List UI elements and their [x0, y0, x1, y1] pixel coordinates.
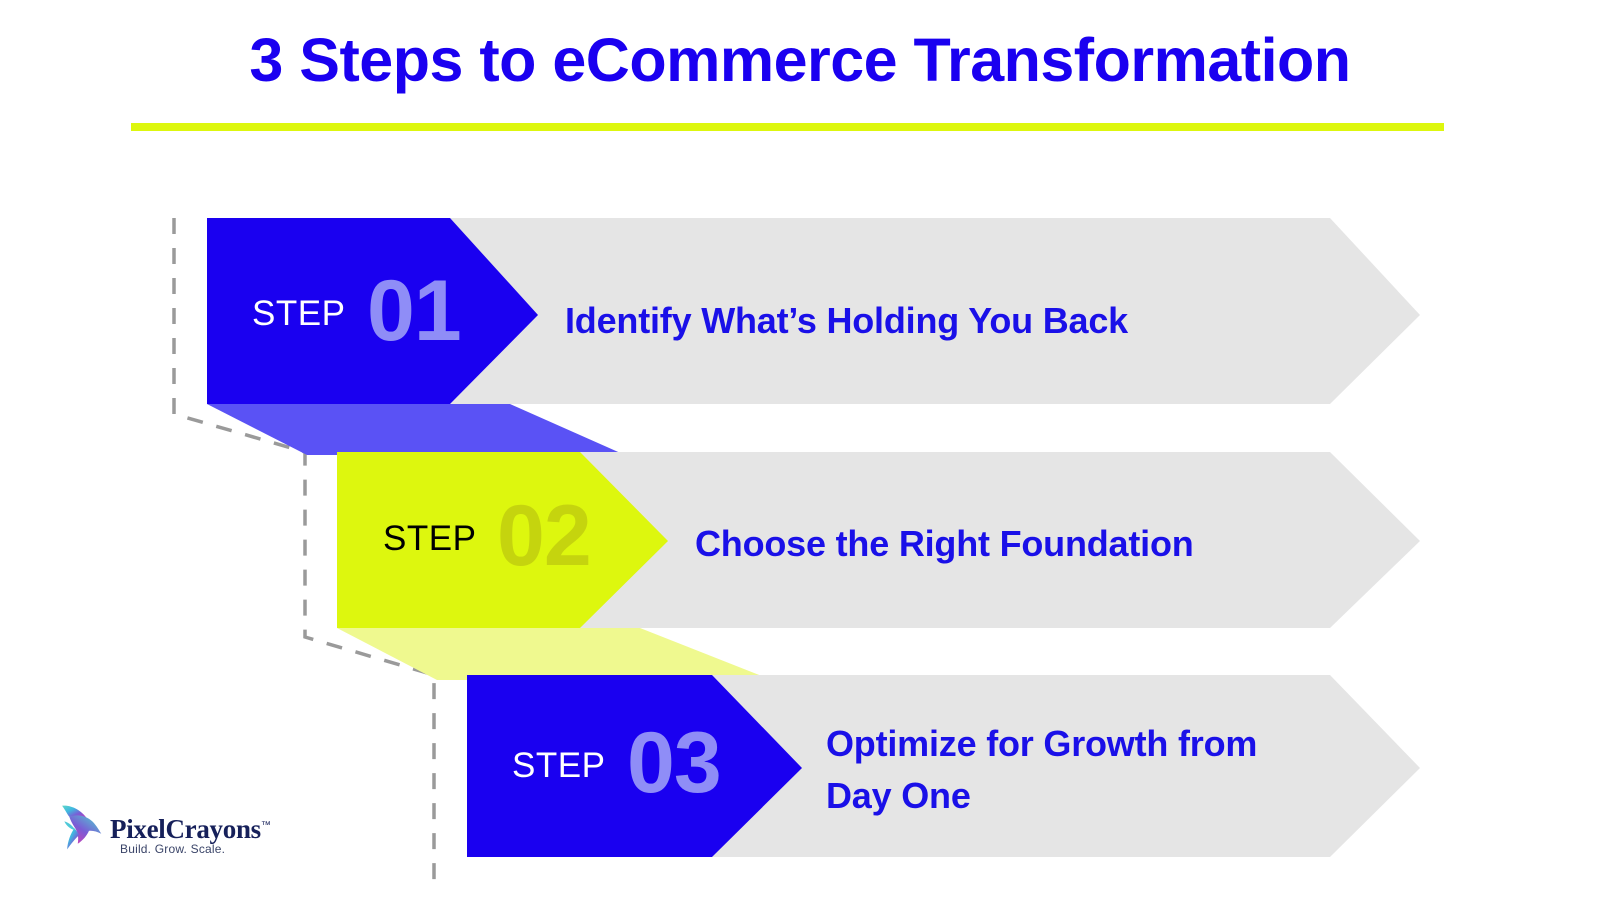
- logo-name: PixelCrayons: [110, 814, 261, 844]
- step-number-03: 03: [627, 720, 721, 806]
- step-title-03: Optimize for Growth from Day One: [826, 718, 1306, 822]
- step-label-03: STEP: [512, 746, 605, 786]
- step-row-03[interactable]: STEP 03 Optimize for Growth from Day One: [0, 0, 1600, 922]
- logo-trademark: ™: [261, 820, 271, 831]
- steps-flow: STEP 01 Identify What’s Holding You Back…: [0, 0, 1600, 922]
- logo-tagline: Build. Grow. Scale.: [120, 842, 225, 856]
- logo-wordmark: PixelCrayons™: [110, 814, 271, 845]
- pixelcrayons-logo: PixelCrayons™ Build. Grow. Scale.: [52, 798, 252, 860]
- hummingbird-icon: [52, 798, 108, 856]
